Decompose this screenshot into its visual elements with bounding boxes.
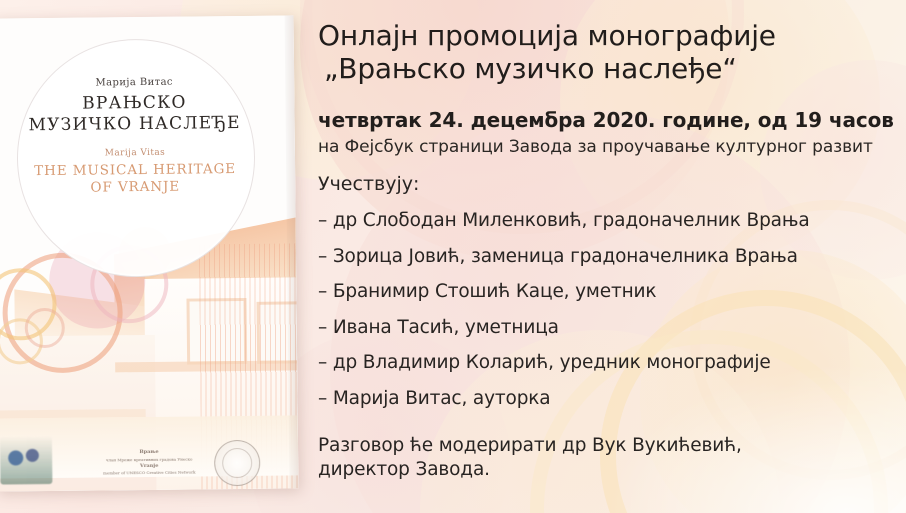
cover-title-serbian-2: МУЗИЧКО НАСЛЕЂЕ <box>17 113 253 137</box>
participants-heading: Учествују: <box>318 173 419 195</box>
book-cover: Марија Витас ВРАЊСКО МУЗИЧКО НАСЛЕЂЕ Mar… <box>0 15 298 491</box>
poster-title-line-2: „Врањско музичко наслеђе“ <box>324 53 737 86</box>
cover-title-serbian-1: ВРАЊСКО <box>16 92 252 116</box>
cover-title-english-2: OF VRANJE <box>17 178 253 198</box>
cover-bubble-ring-small <box>0 318 43 364</box>
list-item: – Зорица Јовић, заменица градоначелника … <box>318 248 906 267</box>
event-location: на Фејсбук страници Завода за проучавање… <box>318 137 873 157</box>
cover-author-english: Marija Vitas <box>17 146 253 158</box>
moderator-line-2: директор Завода. <box>318 458 742 482</box>
poster-title-line-1: Онлајн промоција монографије <box>318 20 776 53</box>
city-coat-of-arms-icon <box>0 436 52 485</box>
publisher-network-en: member of UNESCO Creative Cities Network <box>74 470 224 478</box>
cover-bubble-ring-gold <box>0 268 57 341</box>
moderator-line-1: Разговор ће модерирати др Вук Вукићевић, <box>318 434 742 458</box>
cover-illustration-ledge-2 <box>0 409 146 419</box>
cover-publisher-block: Врање члан Мреже креативних градова Унес… <box>74 448 224 477</box>
participants-list: – др Слободан Миленковић, градоначелник … <box>318 212 906 425</box>
event-date-time: четвртак 24. децембра 2020. године, од 1… <box>318 108 894 132</box>
cover-title-english-1: THE MUSICAL HERITAGE <box>17 160 253 180</box>
list-item: – Ивана Тасић, уметница <box>318 319 906 338</box>
poster-text-column: Онлајн промоција монографије „Врањско му… <box>318 0 906 513</box>
cover-bubble-ring-tiny <box>25 308 65 348</box>
cover-author-serbian: Марија Витас <box>16 76 252 89</box>
promo-poster: Марија Витас ВРАЊСКО МУЗИЧКО НАСЛЕЂЕ Mar… <box>0 0 906 513</box>
cover-illustration-roof-b <box>14 289 215 363</box>
list-item: – Бранимир Стошић Каце, уметник <box>318 283 906 302</box>
list-item: – Марија Витас, ауторка <box>318 390 906 409</box>
cover-illustration-window-1 <box>186 298 247 365</box>
book-spine-shadow <box>285 15 299 488</box>
moderator-note: Разговор ће модерирати др Вук Вукићевић,… <box>318 434 742 481</box>
cover-illustration-ledge-1 <box>115 360 298 372</box>
cover-title-block: Марија Витас ВРАЊСКО МУЗИЧКО НАСЛЕЂЕ Mar… <box>16 76 253 198</box>
list-item: – др Слободан Миленковић, градоначелник … <box>318 212 906 231</box>
list-item: – др Владимир Коларић, уредник монографи… <box>318 354 906 373</box>
book-cover-artwork: Марија Витас ВРАЊСКО МУЗИЧКО НАСЛЕЂЕ Mar… <box>0 15 298 491</box>
